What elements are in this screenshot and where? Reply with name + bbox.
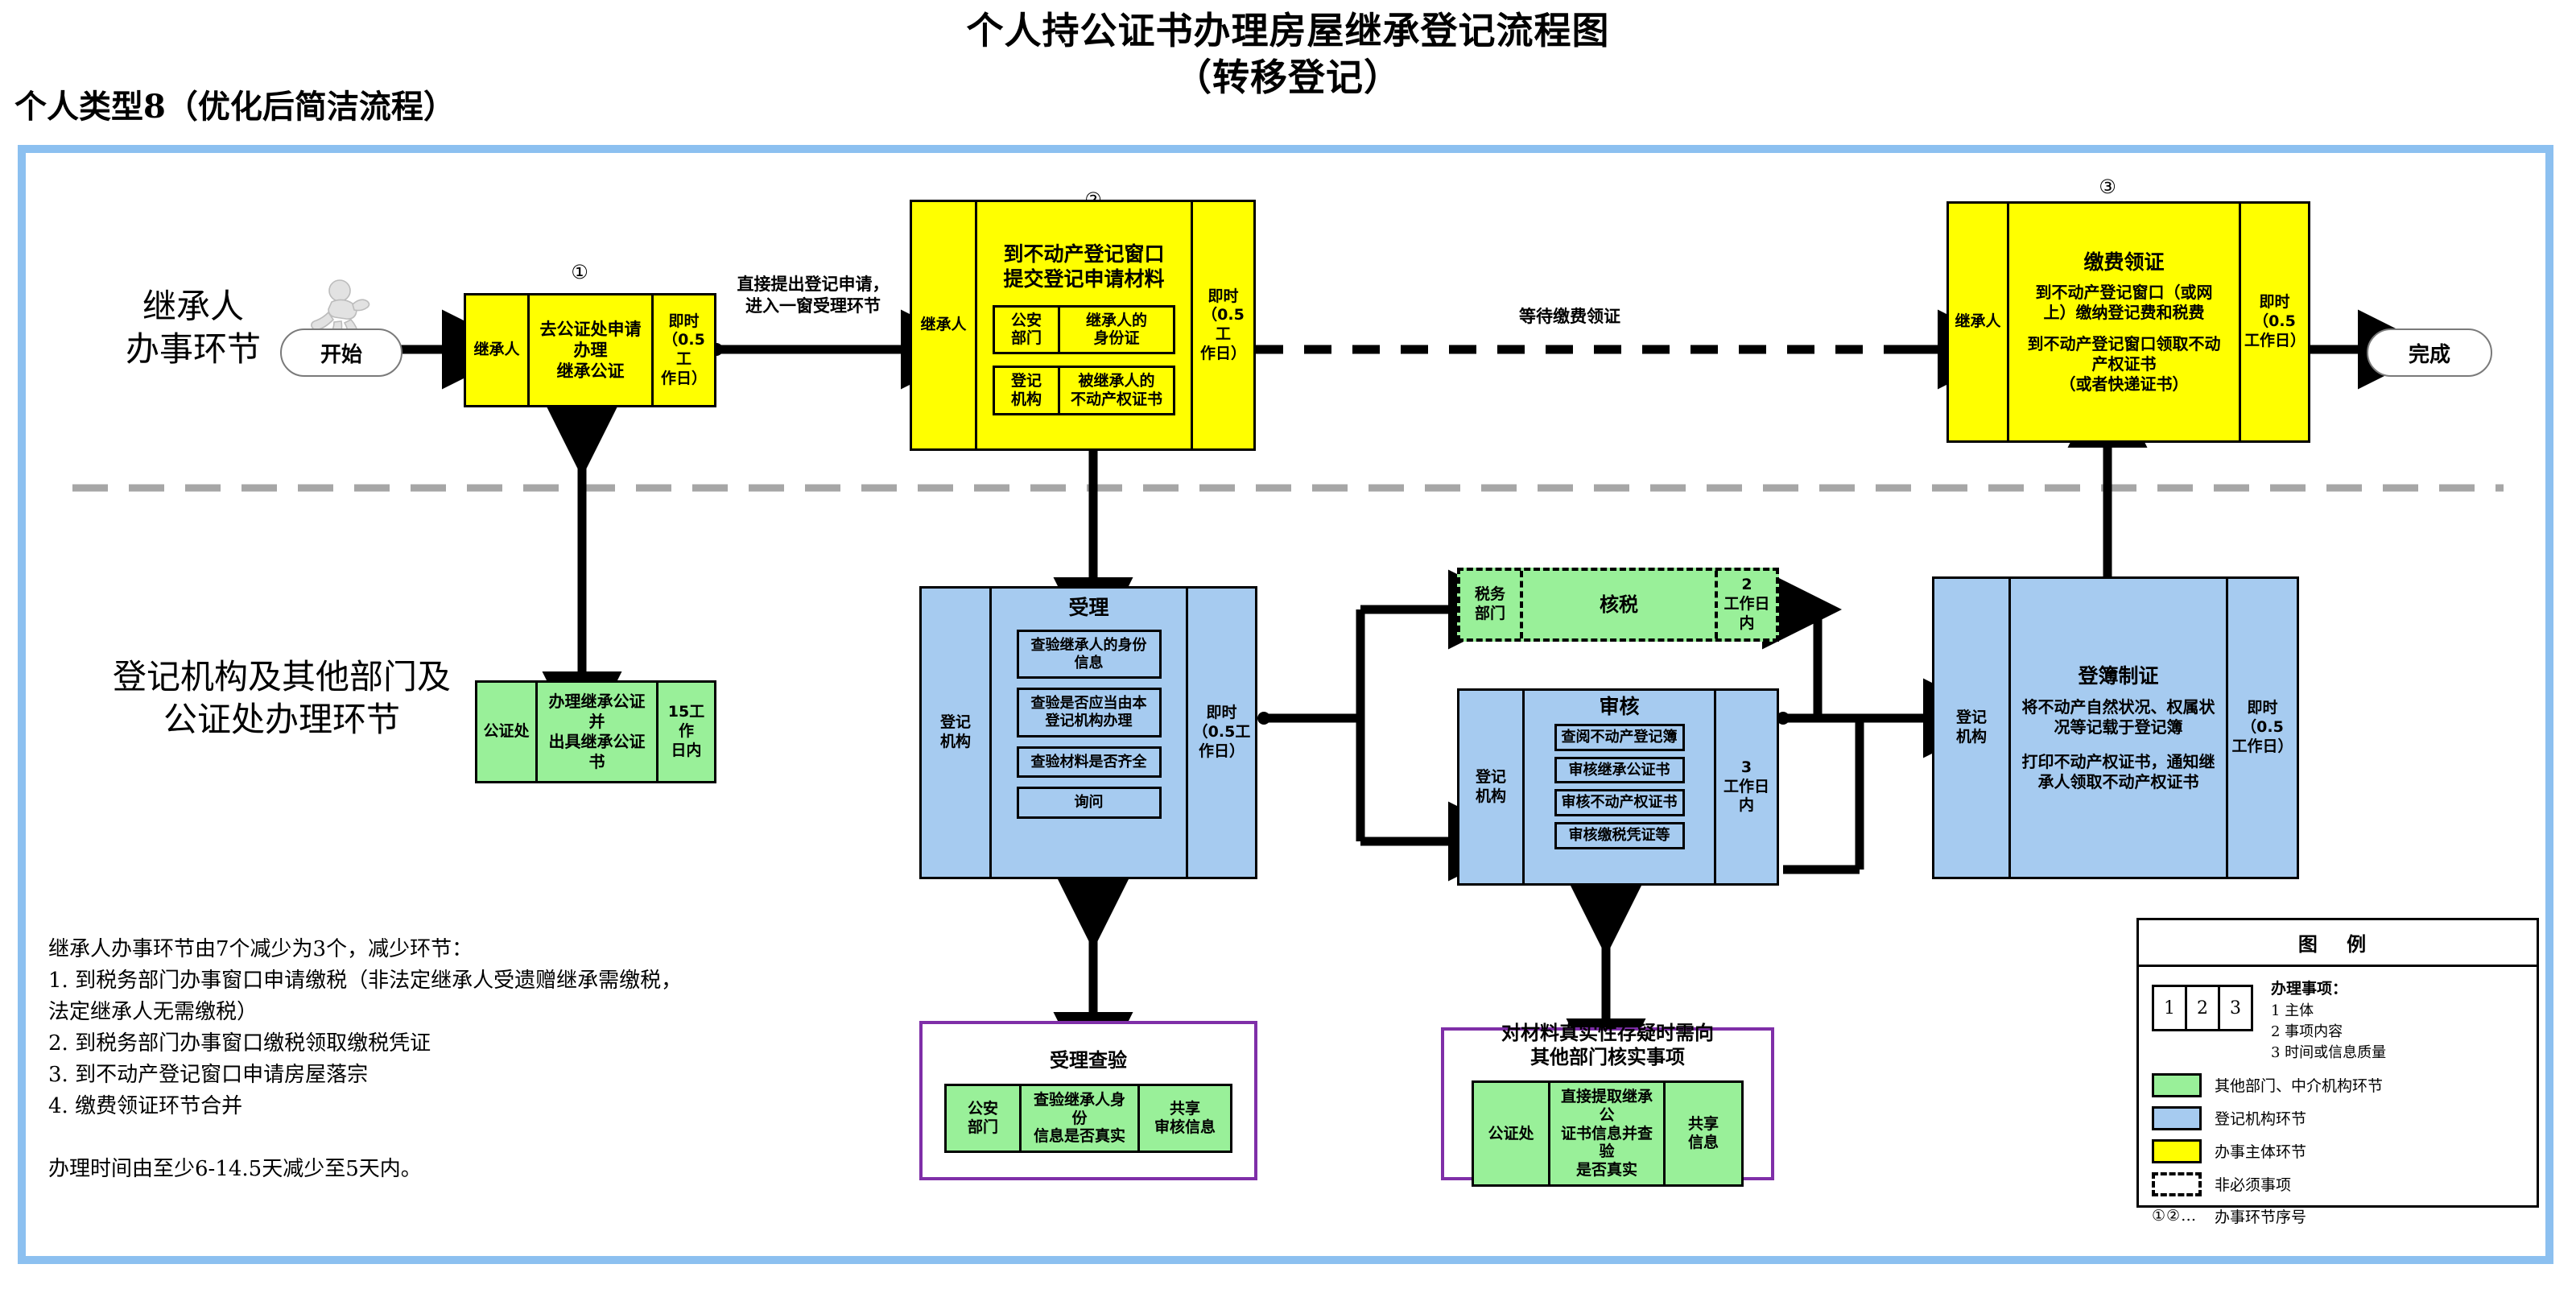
connector-label-wait: 等待缴费领证 [1449,306,1690,328]
process-box-notary[interactable]: 公证处 办理继承公证并 出具继承公证书 15工作 日内 [475,680,716,783]
step-number-1: ① [555,261,604,283]
legend-row-sequence: ①②… 办事环节序号 [2152,1205,2524,1227]
legend-matter-block: 办理事项： 1 主体 2 事项内容 3 时间或信息质量 [2271,978,2386,1064]
legend-swatch-yellow [2152,1139,2202,1163]
group-verify-row: 公证处 直接提取继承公 证书信息并查验 是否真实 共享 信息 [1472,1080,1744,1187]
process-box-accept[interactable]: 登记 机构 受理 查验继承人的身份 信息 查验是否应当由本 登记机构办理 查验材… [919,586,1257,879]
review-item: 审核继承公证书 [1554,757,1685,784]
group-cell-action: 直接提取继承公 证书信息并查验 是否真实 [1548,1083,1663,1184]
tax-body: 核税 [1520,571,1715,638]
step3-actor: 继承人 [1949,204,2007,440]
connector-label-to-step2: 直接提出登记申请， 进入一窗受理环节 [708,274,918,318]
legend-matter-line: 2 事项内容 [2271,1022,2386,1043]
review-headline: 审核 [1599,694,1639,719]
review-time: 3 工作日 内 [1714,691,1777,883]
step1-actor: 继承人 [466,295,527,405]
group-cell-dept: 公证处 [1474,1083,1548,1184]
finish-terminator: 完成 [2367,328,2492,377]
process-box-tax[interactable]: 税务 部门 核税 2 工作日 内 [1457,568,1779,642]
review-item: 审核不动产权证书 [1554,789,1685,816]
legend-label-yellow: 办事主体环节 [2215,1140,2306,1162]
process-box-step3[interactable]: 继承人 缴费领证 到不动产登记窗口（或网 上）缴纳登记费和税费 到不动产登记窗口… [1946,201,2310,443]
lane-label-agency: 登记机构及其他部门及 公证处办理环节 [48,656,515,741]
material-item: 被继承人的 不动产权证书 [1058,368,1173,413]
legend-cell-2: 2 [2185,987,2218,1029]
legend-panel: 图 例 1 2 3 办理事项： 1 主体 2 事项内容 3 时间或信息质量 [2136,918,2539,1208]
legend-matter-line: 1 主体 [2271,1001,2386,1022]
accept-headline: 受理 [1068,595,1108,620]
notary-actor: 公证处 [477,683,535,781]
step2-actor: 继承人 [912,202,975,448]
tax-time: 2 工作日 内 [1715,571,1776,638]
legend-swatch-blue [2152,1106,2202,1130]
step1-body: 去公证处申请办理 继承公证 [527,295,651,405]
legend-row-yellow: 办事主体环节 [2152,1139,2524,1163]
step2-time: 即时 （0.5工 作日） [1191,202,1253,448]
accept-item: 查验是否应当由本 登记机构办理 [1017,688,1162,737]
group-accept-check-row: 公安 部门 查验继承人身份 信息是否真实 共享 审核信息 [944,1084,1232,1153]
review-item: 查阅不动产登记簿 [1554,724,1685,751]
review-body: 审核 查阅不动产登记簿 审核继承公证书 审核不动产权证书 审核缴税凭证等 [1522,691,1714,883]
legend-swatch-green [2152,1073,2202,1097]
accept-item: 查验材料是否齐全 [1017,746,1162,779]
legend-label-blue: 登记机构环节 [2215,1107,2306,1129]
step-number-3: ③ [2083,176,2132,198]
notary-body: 办理继承公证并 出具继承公证书 [535,683,656,781]
legend-structure-sample: 1 2 3 [2152,985,2253,1031]
material-row: 登记 机构 被继承人的 不动产权证书 [993,366,1175,415]
legend-sequence-symbol: ①②… [2152,1207,2202,1225]
accept-item: 询问 [1017,787,1162,819]
group-cell-share: 共享 信息 [1663,1083,1741,1184]
register-line: 打印不动产权证书，通知继 承人领取不动产权证书 [2022,752,2215,792]
group-cell-action: 查验继承人身份 信息是否真实 [1019,1086,1137,1151]
accept-body: 受理 查验继承人的身份 信息 查验是否应当由本 登记机构办理 查验材料是否齐全 … [989,589,1186,877]
group-cell-dept: 公安 部门 [947,1086,1019,1151]
legend-cell-1: 1 [2154,987,2185,1029]
legend-cell-3: 3 [2218,987,2251,1029]
legend-row-green: 其他部门、中介机构环节 [2152,1073,2524,1097]
group-accept-check-title: 受理查验 [1050,1048,1127,1072]
accept-actor: 登记 机构 [922,589,989,877]
register-time: 即时（0.5 工作日） [2226,579,2297,877]
legend-matter-title: 办理事项： [2271,980,2347,998]
process-box-review[interactable]: 登记 机构 审核 查阅不动产登记簿 审核继承公证书 审核不动产权证书 审核缴税凭… [1457,688,1779,886]
process-box-step2[interactable]: 继承人 到不动产登记窗口 提交登记申请材料 公安 部门 继承人的 身份证 登记 … [910,200,1256,451]
step3-headline: 缴费领证 [2083,250,2164,275]
flowchart-page: 个人持公证书办理房屋继承登记流程图 （转移登记） 个人类型8（优化后简洁流程） [0,0,2576,1289]
step3-body: 缴费领证 到不动产登记窗口（或网 上）缴纳登记费和税费 到不动产登记窗口领取不动… [2007,204,2239,440]
material-row: 公安 部门 继承人的 身份证 [993,305,1175,355]
step3-line: 到不动产登记窗口领取不动 产权证书 （或者快递证书） [2028,334,2221,395]
review-actor: 登记 机构 [1459,691,1522,883]
register-line: 将不动产自然状况、权属状 况等记载于登记簿 [2022,697,2215,737]
process-box-register[interactable]: 登记 机构 登簿制证 将不动产自然状况、权属状 况等记载于登记簿 打印不动产权证… [1932,576,2299,879]
step2-body: 到不动产登记窗口 提交登记申请材料 公安 部门 继承人的 身份证 登记 机构 被… [975,202,1191,448]
accept-time: 即时 （0.5工 作日） [1186,589,1255,877]
legend-row-dashed: 非必须事项 [2152,1172,2524,1196]
step3-time: 即时（0.5 工作日） [2239,204,2308,440]
start-terminator: 开始 [280,328,402,377]
legend-row-blue: 登记机构环节 [2152,1106,2524,1130]
process-box-step1[interactable]: 继承人 去公证处申请办理 继承公证 即时 （0.5工 作日） [464,293,716,407]
step2-headline: 到不动产登记窗口 提交登记申请材料 [1003,242,1164,292]
material-dept: 公安 部门 [995,308,1058,353]
register-body: 登簿制证 将不动产自然状况、权属状 况等记载于登记簿 打印不动产权证书，通知继 … [2008,579,2226,877]
group-accept-check: 受理查验 公安 部门 查验继承人身份 信息是否真实 共享 审核信息 [919,1021,1257,1180]
step3-line: 到不动产登记窗口（或网 上）缴纳登记费和税费 [2036,283,2213,323]
legend-label-sequence: 办事环节序号 [2215,1205,2306,1227]
review-item: 审核缴税凭证等 [1554,822,1685,849]
notary-time: 15工作 日内 [656,683,714,781]
group-verify: 对材料真实性存疑时需向 其他部门核实事项 公证处 直接提取继承公 证书信息并查验… [1441,1027,1774,1180]
legend-swatch-dashed [2152,1172,2202,1196]
step2-materials: 公安 部门 继承人的 身份证 登记 机构 被继承人的 不动产权证书 [993,305,1175,415]
legend-label-green: 其他部门、中介机构环节 [2215,1074,2383,1096]
register-headline: 登簿制证 [2078,663,2158,688]
group-verify-title: 对材料真实性存疑时需向 其他部门核实事项 [1501,1021,1714,1069]
legend-matter-line: 3 时间或信息质量 [2271,1043,2386,1064]
legend-label-dashed: 非必须事项 [2215,1173,2291,1195]
legend-title: 图 例 [2139,920,2537,967]
accept-item: 查验继承人的身份 信息 [1017,630,1162,679]
register-actor: 登记 机构 [1934,579,2008,877]
step1-time: 即时 （0.5工 作日） [651,295,714,405]
tax-actor: 税务 部门 [1460,571,1520,638]
group-cell-share: 共享 审核信息 [1137,1086,1230,1151]
summary-notes: 继承人办事环节由7个减少为3个，减少环节： 1. 到税务部门办事窗口申请缴税（非… [48,934,773,1185]
material-item: 继承人的 身份证 [1058,308,1173,353]
material-dept: 登记 机构 [995,368,1058,413]
